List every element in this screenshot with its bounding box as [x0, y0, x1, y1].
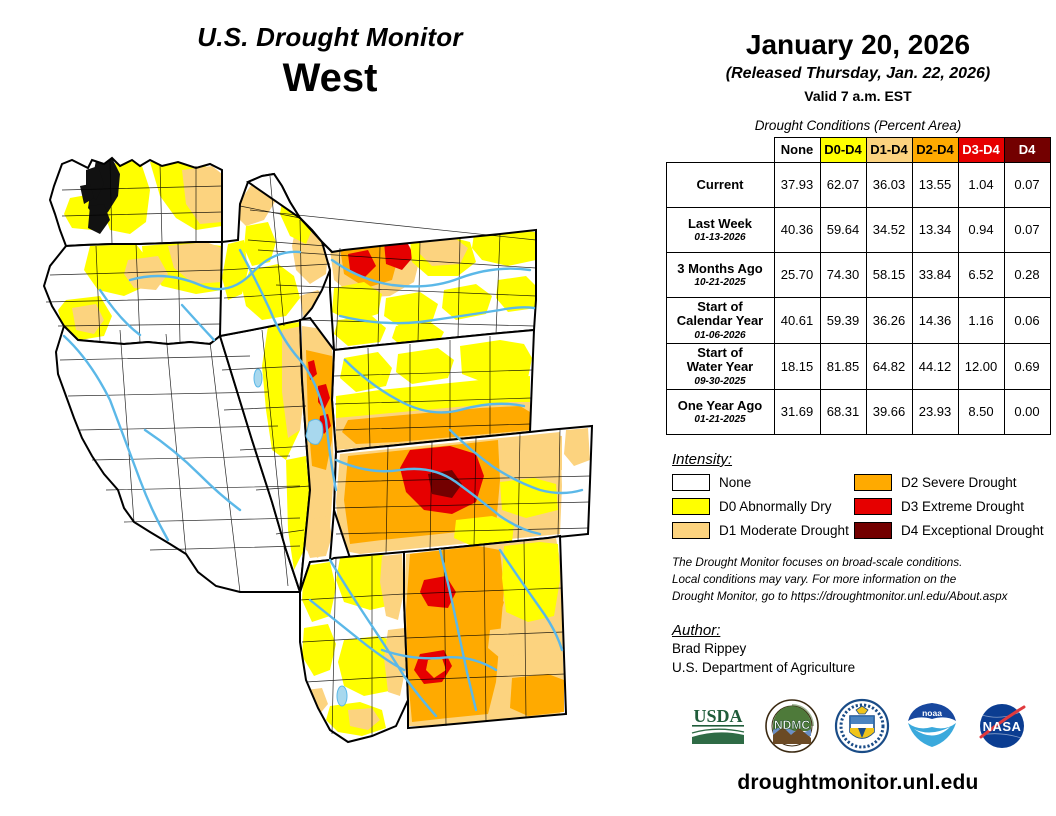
- table-cell-d0-d4: 74.30: [820, 252, 866, 297]
- table-row: Last Week01-13-202640.3659.6434.5213.340…: [666, 207, 1050, 252]
- table-cell-d0-d4: 59.64: [820, 207, 866, 252]
- table-cell-d3-d4: 1.16: [958, 297, 1004, 343]
- row-label: Last Week01-13-2026: [666, 207, 774, 252]
- table-cell-d4: 0.07: [1004, 207, 1050, 252]
- map-base: [44, 158, 592, 742]
- legend-swatch-d3: [854, 498, 892, 515]
- row-label: Current: [666, 162, 774, 207]
- table-cell-none: 25.70: [774, 252, 820, 297]
- table-row: One Year Ago01-21-202531.6968.3139.6623.…: [666, 389, 1050, 434]
- table-col-header-d3-d4: D3-D4: [958, 137, 1004, 162]
- noaa-logo: noaa: [904, 701, 960, 756]
- table-row: Start ofWater Year09-30-202518.1581.8564…: [666, 343, 1050, 389]
- intensity-title: Intensity:: [672, 451, 1056, 468]
- legend-label-d2: D2 Severe Drought: [901, 475, 1017, 490]
- legend-label-d1: D1 Moderate Drought: [719, 523, 849, 538]
- table-cell-d2-d4: 13.34: [912, 207, 958, 252]
- row-label-name: Last Week: [671, 217, 770, 232]
- table-cell-d0-d4: 68.31: [820, 389, 866, 434]
- table-cell-d4: 0.69: [1004, 343, 1050, 389]
- legend-grid: NoneD2 Severe DroughtD0 Abnormally DryD3…: [672, 474, 1056, 539]
- table-row: 3 Months Ago10-21-202525.7074.3058.1533.…: [666, 252, 1050, 297]
- row-label: 3 Months Ago10-21-2025: [666, 252, 774, 297]
- usda-logo: USDA: [686, 704, 750, 753]
- row-label-name: One Year Ago: [671, 399, 770, 414]
- svg-text:USDA: USDA: [693, 706, 742, 726]
- table-cell-d4: 0.28: [1004, 252, 1050, 297]
- row-label: Start ofCalendar Year01-06-2026: [666, 297, 774, 343]
- svg-text:NASA: NASA: [983, 719, 1022, 734]
- row-label-date: 09-30-2025: [671, 376, 770, 387]
- svg-text:NDMC: NDMC: [774, 718, 810, 732]
- legend-swatch-d0: [672, 498, 710, 515]
- legend-swatch-d4: [854, 522, 892, 539]
- table-cell-none: 31.69: [774, 389, 820, 434]
- table-cell-d3-d4: 12.00: [958, 343, 1004, 389]
- table-header-row: NoneD0-D4D1-D4D2-D4D3-D4D4: [666, 137, 1050, 162]
- state-arizona: [300, 552, 408, 742]
- valid-time: Valid 7 a.m. EST: [660, 88, 1056, 104]
- row-label-name: Start ofWater Year: [671, 346, 770, 375]
- table-cell-d3-d4: 6.52: [958, 252, 1004, 297]
- table-cell-d1-d4: 34.52: [866, 207, 912, 252]
- table-cell-d1-d4: 36.26: [866, 297, 912, 343]
- table-cell-d3-d4: 1.04: [958, 162, 1004, 207]
- table-corner-cell: [666, 137, 774, 162]
- table-cell-d0-d4: 59.39: [820, 297, 866, 343]
- disclaimer-line-2: Local conditions may vary. For more info…: [672, 572, 1056, 589]
- row-label: Start ofWater Year09-30-2025: [666, 343, 774, 389]
- website-url[interactable]: droughtmonitor.unl.edu: [660, 771, 1056, 795]
- table-cell-d2-d4: 14.36: [912, 297, 958, 343]
- legend-item-d2[interactable]: D2 Severe Drought: [854, 474, 1044, 491]
- table-col-header-none: None: [774, 137, 820, 162]
- author-organization: U.S. Department of Agriculture: [672, 658, 1056, 678]
- table-cell-none: 18.15: [774, 343, 820, 389]
- table-cell-d2-d4: 23.93: [912, 389, 958, 434]
- table-cell-d0-d4: 81.85: [820, 343, 866, 389]
- legend-item-d0[interactable]: D0 Abnormally Dry: [672, 498, 854, 515]
- table-cell-d4: 0.07: [1004, 162, 1050, 207]
- author-name: Brad Rippey: [672, 639, 1056, 659]
- legend-swatch-none: [672, 474, 710, 491]
- release-date: (Released Thursday, Jan. 22, 2026): [660, 65, 1056, 83]
- row-label-name: 3 Months Ago: [671, 262, 770, 277]
- table-row: Start ofCalendar Year01-06-202640.6159.3…: [666, 297, 1050, 343]
- legend-item-d3[interactable]: D3 Extreme Drought: [854, 498, 1044, 515]
- table-body: Current37.9362.0736.0313.551.040.07Last …: [666, 162, 1050, 434]
- noaa-shield-logo: [834, 698, 890, 759]
- row-label-date: 01-06-2026: [671, 330, 770, 341]
- nasa-logo: NASA: [974, 701, 1030, 756]
- legend-swatch-d1: [672, 522, 710, 539]
- row-label-name: Start ofCalendar Year: [671, 300, 770, 329]
- table-col-header-d1-d4: D1-D4: [866, 137, 912, 162]
- legend-swatch-d2: [854, 474, 892, 491]
- legend-item-none[interactable]: None: [672, 474, 854, 491]
- drought-conditions-table: NoneD0-D4D1-D4D2-D4D3-D4D4 Current37.936…: [666, 137, 1051, 435]
- row-label-date: 01-13-2026: [671, 232, 770, 243]
- table-cell-d2-d4: 44.12: [912, 343, 958, 389]
- intensity-legend: Intensity: NoneD2 Severe DroughtD0 Abnor…: [672, 451, 1056, 539]
- table-cell-d2-d4: 13.55: [912, 162, 958, 207]
- table-cell-none: 40.61: [774, 297, 820, 343]
- region-title: West: [0, 57, 660, 99]
- table-col-header-d4: D4: [1004, 137, 1050, 162]
- author-title: Author:: [672, 622, 1056, 639]
- map-title-block: U.S. Drought Monitor West: [0, 24, 660, 99]
- legend-label-d3: D3 Extreme Drought: [901, 499, 1024, 514]
- table-cell-none: 37.93: [774, 162, 820, 207]
- legend-item-d1[interactable]: D1 Moderate Drought: [672, 522, 854, 539]
- table-cell-d3-d4: 8.50: [958, 389, 1004, 434]
- table-cell-d3-d4: 0.94: [958, 207, 1004, 252]
- disclaimer-line-1: The Drought Monitor focuses on broad-sca…: [672, 555, 1056, 572]
- report-date: January 20, 2026: [660, 30, 1056, 61]
- drought-map[interactable]: [0, 130, 660, 800]
- svg-text:noaa: noaa: [922, 708, 942, 718]
- table-caption: Drought Conditions (Percent Area): [660, 118, 1056, 133]
- table-cell-d1-d4: 36.03: [866, 162, 912, 207]
- legend-item-d4[interactable]: D4 Exceptional Drought: [854, 522, 1044, 539]
- table-cell-d2-d4: 33.84: [912, 252, 958, 297]
- legend-label-none: None: [719, 475, 751, 490]
- table-cell-d4: 0.06: [1004, 297, 1050, 343]
- legend-label-d4: D4 Exceptional Drought: [901, 523, 1044, 538]
- table-col-header-d2-d4: D2-D4: [912, 137, 958, 162]
- legend-label-d0: D0 Abnormally Dry: [719, 499, 832, 514]
- row-label: One Year Ago01-21-2025: [666, 389, 774, 434]
- ndmc-logo: NDMC: [764, 698, 820, 759]
- partner-logos: USDA NDMC: [660, 698, 1056, 759]
- drought-monitor-page: U.S. Drought Monitor West: [0, 0, 1056, 816]
- table-cell-d1-d4: 58.15: [866, 252, 912, 297]
- disclaimer-text: The Drought Monitor focuses on broad-sca…: [672, 555, 1056, 606]
- disclaimer-line-3: Drought Monitor, go to https://droughtmo…: [672, 589, 1056, 606]
- table-cell-d4: 0.00: [1004, 389, 1050, 434]
- row-label-date: 10-21-2025: [671, 277, 770, 288]
- table-cell-d0-d4: 62.07: [820, 162, 866, 207]
- table-cell-d1-d4: 39.66: [866, 389, 912, 434]
- row-label-name: Current: [671, 178, 770, 193]
- page-title: U.S. Drought Monitor: [0, 24, 660, 51]
- table-row: Current37.9362.0736.0313.551.040.07: [666, 162, 1050, 207]
- table-cell-none: 40.36: [774, 207, 820, 252]
- table-cell-d1-d4: 64.82: [866, 343, 912, 389]
- table-col-header-d0-d4: D0-D4: [820, 137, 866, 162]
- right-panel: January 20, 2026 (Released Thursday, Jan…: [660, 0, 1056, 816]
- row-label-date: 01-21-2025: [671, 414, 770, 425]
